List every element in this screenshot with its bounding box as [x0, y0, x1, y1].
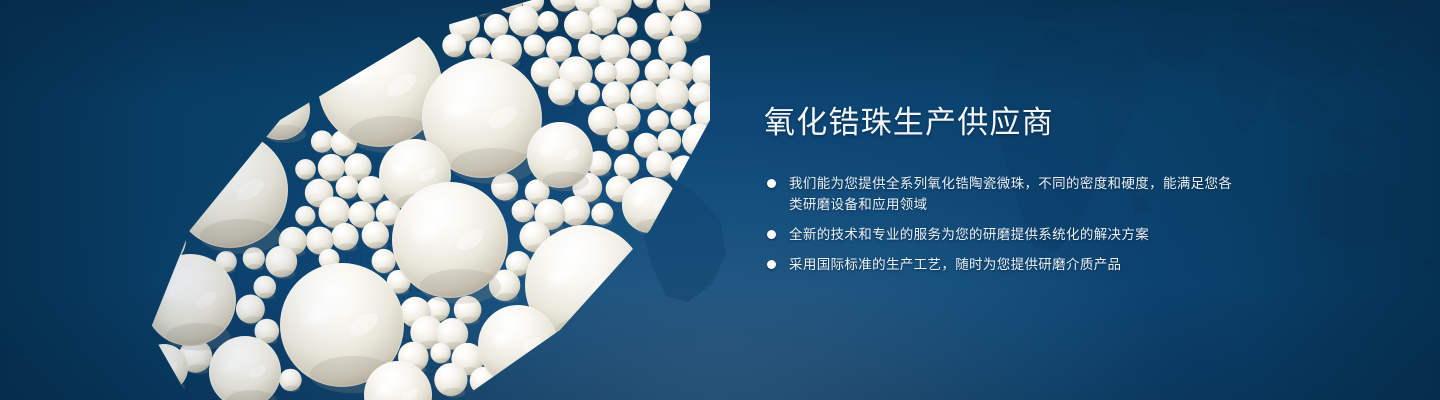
bullet-dot-icon — [767, 230, 776, 239]
list-item-label: 我们能为您提供全系列氧化锆陶瓷微珠，不同的密度和硬度，能满足您各类研磨设备和应用… — [789, 173, 1234, 215]
hero-banner: 氧化锆珠生产供应商 我们能为您提供全系列氧化锆陶瓷微珠，不同的密度和硬度，能满足… — [0, 0, 1440, 400]
banner-copy: 氧化锆珠生产供应商 我们能为您提供全系列氧化锆陶瓷微珠，不同的密度和硬度，能满足… — [764, 104, 1234, 275]
page-title: 氧化锆珠生产供应商 — [764, 104, 1234, 143]
list-item: 全新的技术和专业的服务为您的研磨提供系统化的解决方案 — [764, 224, 1234, 245]
bullet-dot-icon — [767, 179, 776, 188]
feature-list: 我们能为您提供全系列氧化锆陶瓷微珠，不同的密度和硬度，能满足您各类研磨设备和应用… — [764, 173, 1234, 275]
list-item: 采用国际标准的生产工艺，随时为您提供研磨介质产品 — [764, 254, 1234, 275]
list-item: 我们能为您提供全系列氧化锆陶瓷微珠，不同的密度和硬度，能满足您各类研磨设备和应用… — [764, 173, 1234, 215]
bullet-dot-icon — [767, 260, 776, 269]
list-item-label: 全新的技术和专业的服务为您的研磨提供系统化的解决方案 — [789, 224, 1234, 245]
list-item-label: 采用国际标准的生产工艺，随时为您提供研磨介质产品 — [789, 254, 1234, 275]
